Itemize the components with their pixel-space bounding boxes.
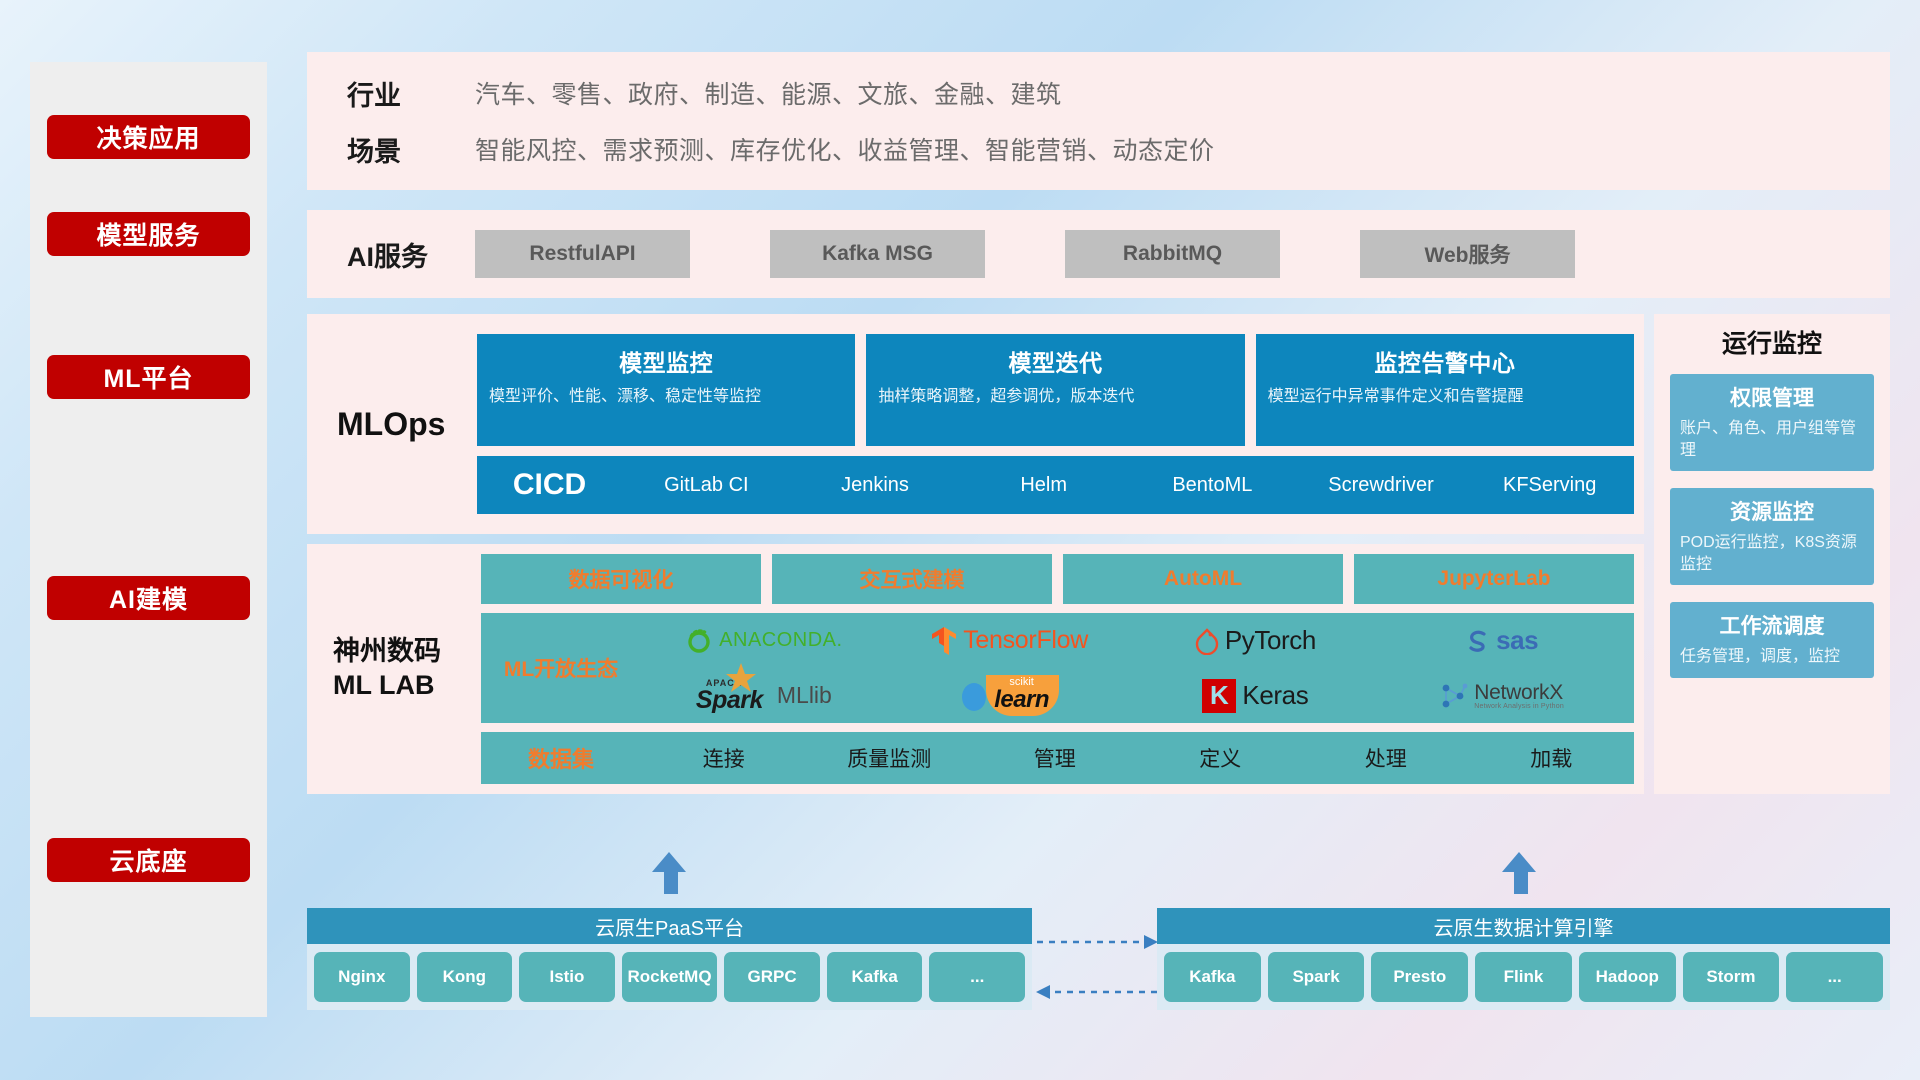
mlops-card-title: 监控告警中心 (1268, 344, 1622, 378)
keras-wordmark: Keras (1242, 680, 1308, 711)
ai-service-restfulapi[interactable]: RestfulAPI (475, 230, 690, 278)
rail-chip-decision-app[interactable]: 决策应用 (47, 115, 250, 159)
data-chip-storm[interactable]: Storm (1683, 952, 1780, 1002)
cicd-item-bentoml[interactable]: BentoML (1128, 470, 1297, 500)
rail-chip-ai-modeling[interactable]: AI建模 (47, 576, 250, 620)
ai-service-web[interactable]: Web服务 (1360, 230, 1575, 278)
data-chip-kafka[interactable]: Kafka (1164, 952, 1261, 1002)
mllib-wordmark: MLlib (777, 682, 832, 709)
keras-mark-letter: K (1210, 680, 1229, 711)
cloud-native-data-engine-chips: Kafka Spark Presto Flink Hadoop Storm ..… (1157, 944, 1890, 1010)
mlops-card-title: 模型迭代 (878, 344, 1232, 378)
ai-service-band: AI服务 RestfulAPI Kafka MSG RabbitMQ Web服务 (307, 210, 1890, 298)
monitor-card-title: 权限管理 (1680, 382, 1864, 412)
ai-service-rabbitmq[interactable]: RabbitMQ (1065, 230, 1280, 278)
layer-rail: 决策应用 模型服务 ML平台 AI建模 云底座 (30, 62, 267, 1017)
dataset-title: 数据集 (481, 742, 641, 774)
pytorch-wordmark: PyTorch (1225, 625, 1316, 656)
ai-service-kafka-msg[interactable]: Kafka MSG (770, 230, 985, 278)
anaconda-mark-icon (685, 627, 713, 655)
networkx-tagline: Network Analysis in Python (1474, 703, 1564, 710)
cloud-native-paas-title: 云原生PaaS平台 (307, 908, 1032, 944)
monitor-card-desc: 账户、角色、用户组等管理 (1680, 418, 1864, 461)
dataset-item-load[interactable]: 加载 (1469, 743, 1635, 773)
cicd-item-jenkins[interactable]: Jenkins (791, 470, 960, 500)
dataset-item-quality[interactable]: 质量监测 (807, 743, 973, 773)
monitor-card-workflow[interactable]: 工作流调度 任务管理，调度，监控 (1670, 602, 1874, 678)
monitor-card-title: 资源监控 (1680, 496, 1864, 526)
cloud-native-data-engine-title: 云原生数据计算引擎 (1157, 908, 1890, 944)
cicd-item-helm[interactable]: Helm (959, 470, 1128, 500)
spark-mllib-logo: APACHE Spark MLlib (641, 679, 887, 713)
industry-label: 行业 (347, 74, 475, 113)
runtime-monitoring-title: 运行监控 (1670, 324, 1874, 360)
cicd-title: CICD (477, 468, 622, 502)
dataset-item-process[interactable]: 处理 (1303, 743, 1469, 773)
networkx-logo: NetworkX Network Analysis in Python (1378, 681, 1624, 711)
mlops-card-model-monitoring[interactable]: 模型监控 模型评价、性能、漂移、稳定性等监控 (477, 334, 855, 446)
rail-chip-ml-platform[interactable]: ML平台 (47, 355, 250, 399)
tensorflow-mark-icon (931, 626, 957, 656)
cloud-native-paas-group: 云原生PaaS平台 Nginx Kong Istio RocketMQ GRPC… (307, 908, 1032, 1010)
runtime-monitoring-band: 运行监控 权限管理 账户、角色、用户组等管理 资源监控 POD运行监控，K8S资… (1654, 314, 1890, 794)
ml-lab-label-line1: 神州数码 (333, 635, 481, 669)
anaconda-wordmark: ANACONDA. (719, 629, 842, 652)
ml-open-ecosystem-logos: ANACONDA. TensorFlow (641, 613, 1634, 723)
cloud-chip-grpc[interactable]: GRPC (724, 952, 820, 1002)
cicd-item-screwdriver[interactable]: Screwdriver (1297, 470, 1466, 500)
mlops-cards: 模型监控 模型评价、性能、漂移、稳定性等监控 模型迭代 抽样策略调整，超参调优，… (477, 334, 1634, 446)
keras-logo: K Keras (1133, 679, 1379, 713)
sas-wordmark: sas (1496, 625, 1538, 656)
scenario-value: 智能风控、需求预测、库存优化、收益管理、智能营销、动态定价 (475, 131, 1215, 167)
app-row-scenario: 场景 智能风控、需求预测、库存优化、收益管理、智能营销、动态定价 (347, 121, 1890, 177)
tensorflow-wordmark: TensorFlow (963, 626, 1088, 655)
scikit-orange-blob: scikit learn (986, 675, 1059, 716)
paas-data-link-arrows (1032, 930, 1162, 1010)
anaconda-logo: ANACONDA. (641, 627, 887, 655)
cicd-bar: CICD GitLab CI Jenkins Helm BentoML Scre… (477, 456, 1634, 514)
ai-service-items: RestfulAPI Kafka MSG RabbitMQ Web服务 (475, 230, 1575, 278)
dataset-item-define[interactable]: 定义 (1138, 743, 1304, 773)
dataset-row: 数据集 连接 质量监测 管理 定义 处理 加载 (481, 732, 1634, 784)
scikit-learn-logo: scikit learn (887, 675, 1133, 716)
ml-lab-label-line2: ML LAB (333, 669, 481, 703)
pytorch-mark-icon (1195, 627, 1219, 655)
monitor-card-permission[interactable]: 权限管理 账户、角色、用户组等管理 (1670, 374, 1874, 471)
rail-chip-cloud-base[interactable]: 云底座 (47, 838, 250, 882)
cloud-chip-kafka[interactable]: Kafka (827, 952, 923, 1002)
logo-row-1: ANACONDA. TensorFlow (641, 613, 1624, 668)
mlops-card-model-iteration[interactable]: 模型迭代 抽样策略调整，超参调优，版本迭代 (866, 334, 1244, 446)
cicd-item-kfserving[interactable]: KFServing (1465, 470, 1634, 500)
ml-lab-content: 数据可视化 交互式建模 AutoML JupyterLab ML开放生态 (481, 554, 1634, 784)
cicd-item-gitlab-ci[interactable]: GitLab CI (622, 470, 791, 500)
pytorch-logo: PyTorch (1133, 625, 1379, 656)
ml-lab-band: 神州数码 ML LAB 数据可视化 交互式建模 AutoML JupyterLa… (307, 544, 1644, 794)
monitor-card-title: 工作流调度 (1680, 610, 1864, 640)
lab-tool-jupyterlab[interactable]: JupyterLab (1354, 554, 1634, 604)
lab-tool-interactive-modeling[interactable]: 交互式建模 (772, 554, 1052, 604)
scikit-blue-blob-icon (960, 679, 988, 713)
cloud-chip-rocketmq[interactable]: RocketMQ (622, 952, 718, 1002)
decision-app-band: 行业 汽车、零售、政府、制造、能源、文旅、金融、建筑 场景 智能风控、需求预测、… (307, 52, 1890, 190)
cloud-native-data-engine-group: 云原生数据计算引擎 Kafka Spark Presto Flink Hadoo… (1157, 908, 1890, 1010)
data-chip-hadoop[interactable]: Hadoop (1579, 952, 1676, 1002)
mlops-content: 模型监控 模型评价、性能、漂移、稳定性等监控 模型迭代 抽样策略调整，超参调优，… (477, 334, 1634, 514)
spark-star-icon (724, 661, 758, 695)
scikit-learn-text: learn (994, 688, 1049, 712)
rail-chip-model-service[interactable]: 模型服务 (47, 212, 250, 256)
networkx-mark-icon (1438, 681, 1468, 711)
lab-tool-automl[interactable]: AutoML (1063, 554, 1343, 604)
tensorflow-logo: TensorFlow (887, 626, 1133, 656)
dataset-item-connect[interactable]: 连接 (641, 743, 807, 773)
data-chip-more[interactable]: ... (1786, 952, 1883, 1002)
dataset-item-manage[interactable]: 管理 (972, 743, 1138, 773)
mlops-card-desc: 模型评价、性能、漂移、稳定性等监控 (489, 386, 843, 408)
data-chip-spark[interactable]: Spark (1268, 952, 1365, 1002)
networkx-wordmark: NetworkX (1474, 682, 1564, 703)
monitor-card-desc: POD运行监控，K8S资源监控 (1680, 532, 1864, 575)
sas-mark-icon (1464, 628, 1490, 654)
ai-service-label: AI服务 (347, 235, 475, 274)
cloud-native-paas-chips: Nginx Kong Istio RocketMQ GRPC Kafka ... (307, 944, 1032, 1010)
cloud-chip-kong[interactable]: Kong (417, 952, 513, 1002)
mlops-band: MLOps 模型监控 模型评价、性能、漂移、稳定性等监控 模型迭代 抽样策略调整… (307, 314, 1644, 534)
architecture-diagram: 决策应用 模型服务 ML平台 AI建模 云底座 行业 汽车、零售、政府、制造、能… (0, 0, 1920, 1080)
monitor-card-resource[interactable]: 资源监控 POD运行监控，K8S资源监控 (1670, 488, 1874, 585)
ml-open-ecosystem: ML开放生态 ANACONDA. (481, 613, 1634, 723)
mlops-card-desc: 抽样策略调整，超参调优，版本迭代 (878, 386, 1232, 408)
ml-lab-label: 神州数码 ML LAB (333, 635, 481, 703)
mlops-card-alert-center[interactable]: 监控告警中心 模型运行中异常事件定义和告警提醒 (1256, 334, 1634, 446)
scenario-label: 场景 (347, 130, 475, 169)
app-rows: 行业 汽车、零售、政府、制造、能源、文旅、金融、建筑 场景 智能风控、需求预测、… (347, 65, 1890, 177)
cloud-foundation: 云原生PaaS平台 Nginx Kong Istio RocketMQ GRPC… (307, 890, 1890, 1040)
data-chip-flink[interactable]: Flink (1475, 952, 1572, 1002)
ml-open-ecosystem-label: ML开放生态 (481, 653, 641, 683)
industry-value: 汽车、零售、政府、制造、能源、文旅、金融、建筑 (475, 75, 1062, 111)
ml-lab-tools: 数据可视化 交互式建模 AutoML JupyterLab (481, 554, 1634, 604)
monitor-card-desc: 任务管理，调度，监控 (1680, 646, 1864, 668)
cloud-chip-istio[interactable]: Istio (519, 952, 615, 1002)
data-chip-presto[interactable]: Presto (1371, 952, 1468, 1002)
keras-mark-icon: K (1202, 679, 1236, 713)
cloud-chip-more[interactable]: ... (929, 952, 1025, 1002)
mlops-card-desc: 模型运行中异常事件定义和告警提醒 (1268, 386, 1622, 408)
lab-tool-data-visualization[interactable]: 数据可视化 (481, 554, 761, 604)
mlops-card-title: 模型监控 (489, 344, 843, 378)
sas-logo: sas (1378, 625, 1624, 656)
app-row-industry: 行业 汽车、零售、政府、制造、能源、文旅、金融、建筑 (347, 65, 1890, 121)
logo-row-2: APACHE Spark MLlib (641, 668, 1624, 723)
cloud-chip-nginx[interactable]: Nginx (314, 952, 410, 1002)
mlops-label: MLOps (337, 406, 477, 443)
